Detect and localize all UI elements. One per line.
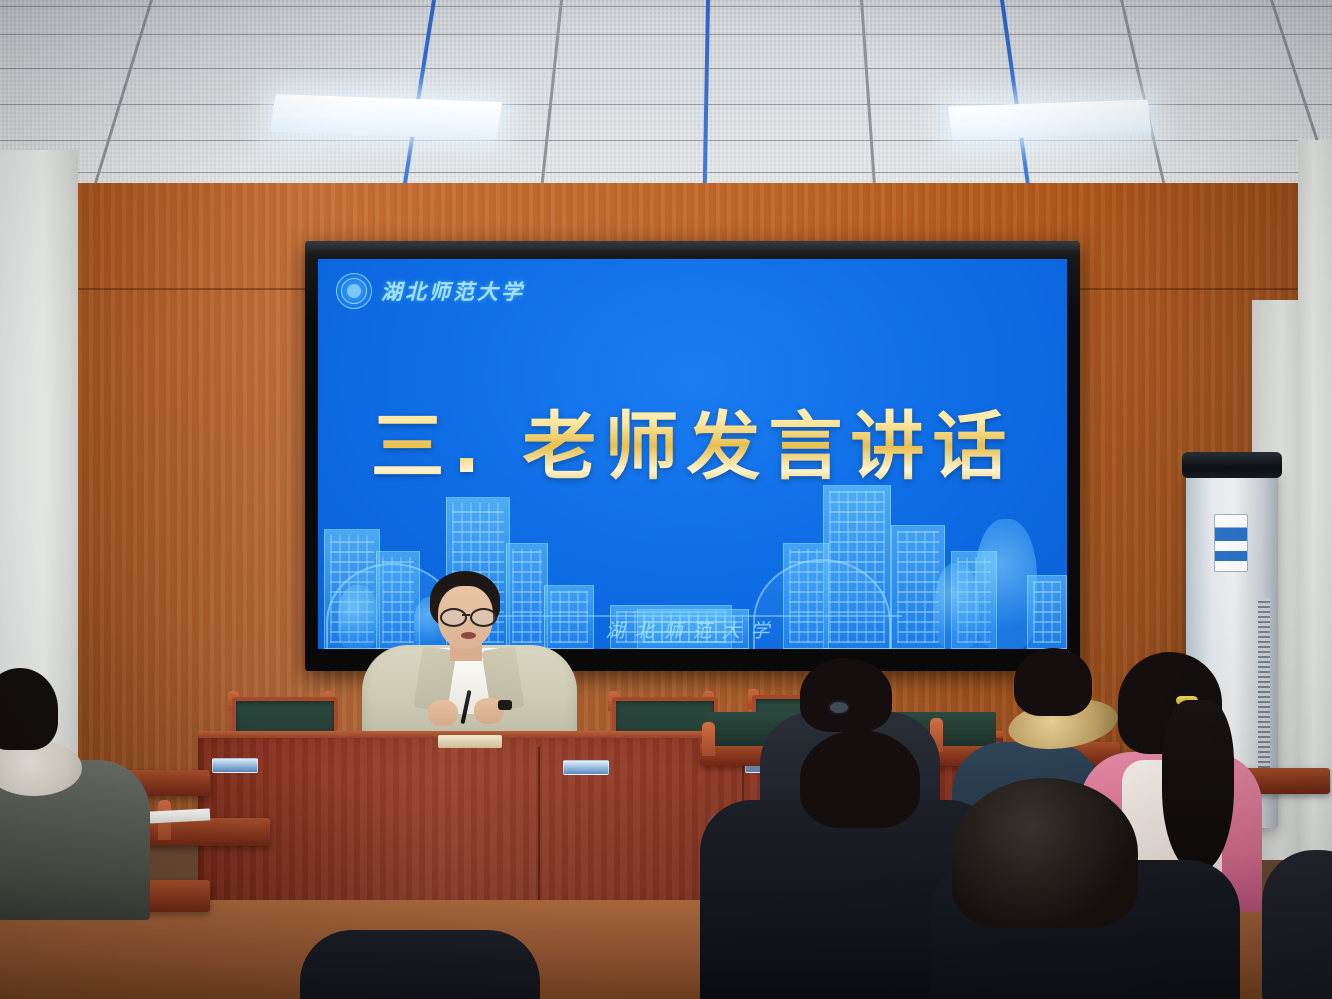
ponytail (1162, 700, 1234, 872)
air-conditioner-top (1182, 452, 1282, 478)
notepad (438, 735, 502, 748)
glasses-left-lens-icon (440, 608, 467, 627)
conference-room-photo: 湖北师范大学 三. 老师发言讲话 (0, 0, 1332, 999)
table-name-plate (212, 758, 258, 773)
ceiling-light-panel-left (270, 94, 503, 140)
table-name-plate (563, 760, 609, 775)
attendee-glasses-icon (828, 700, 850, 715)
projection-screen[interactable]: 湖北师范大学 三. 老师发言讲话 (318, 259, 1067, 649)
ceiling (0, 0, 1332, 192)
slide-logo: 湖北师范大学 (336, 273, 525, 309)
campus-caption: 湖北师范大学 (318, 616, 1067, 643)
campus-illustration: 湖北师范大学 (318, 444, 1067, 649)
ceiling-tile-texture (0, 0, 1332, 192)
glasses-right-lens-icon (470, 608, 497, 627)
university-name-text: 湖北师范大学 (381, 276, 525, 306)
speaker-hand-left (428, 700, 458, 726)
attendee-hair-updo (952, 778, 1138, 928)
air-conditioner-label (1214, 514, 1248, 572)
speaker-mouth (461, 632, 476, 639)
bench-post (702, 722, 715, 756)
projection-screen-bezel: 湖北师范大学 三. 老师发言讲话 (305, 241, 1080, 671)
glasses-bridge-icon (462, 614, 470, 616)
air-conditioner-vent (1258, 598, 1270, 778)
university-seal-icon (336, 273, 372, 309)
speaker-wristwatch (498, 700, 512, 710)
ceiling-light-panel-right (948, 100, 1151, 141)
